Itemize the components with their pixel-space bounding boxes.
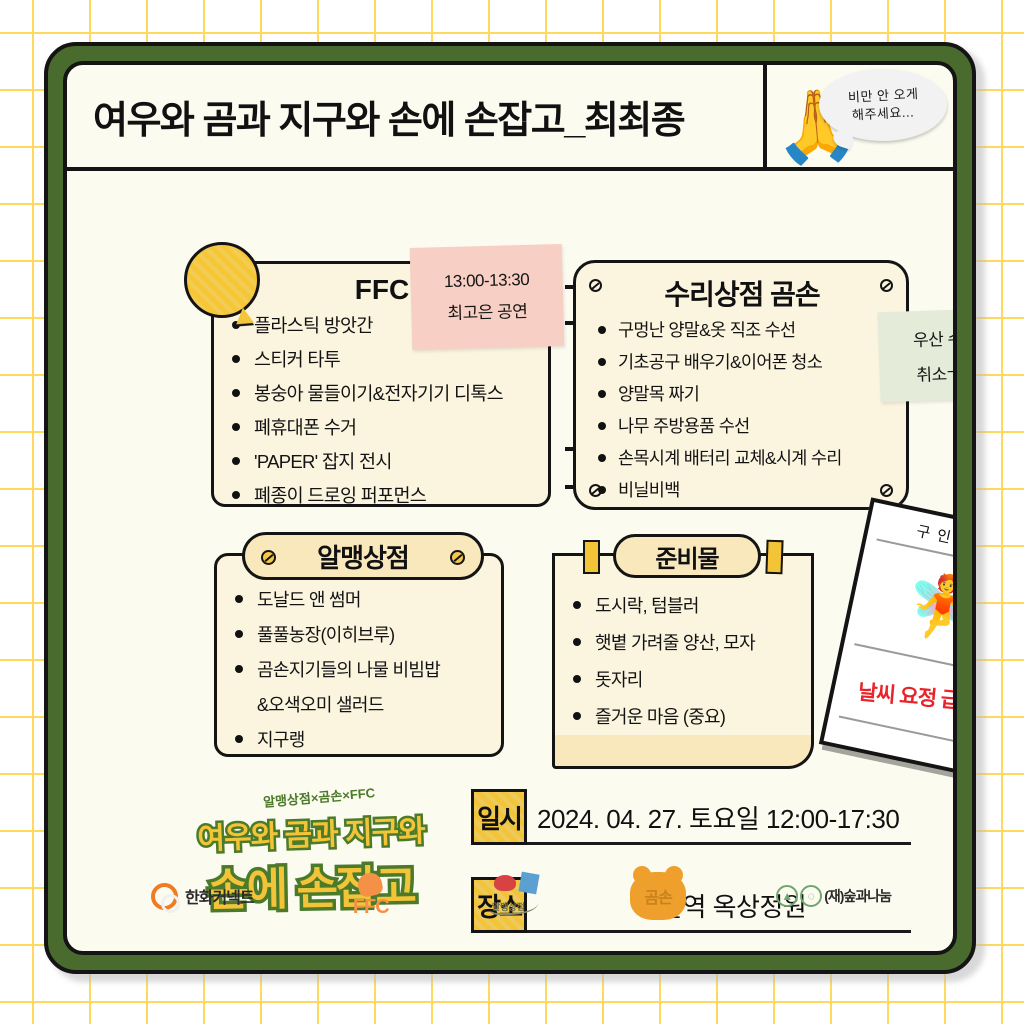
gomson-title: 수리상점 곰손: [588, 273, 896, 313]
almaeng-title: 알맹상점: [317, 538, 409, 575]
job-ad-card: 구인광고 🧚 날씨 요정 급구!!: [819, 497, 957, 782]
date-value: 2024. 04. 27. 토요일 12:00-17:30: [527, 799, 911, 845]
ffc-speech-bubble-icon: [184, 242, 260, 318]
poster-page: 여우와 곰과 지구와 손에 손잡고_최최종 🙏 비만 안 오게 해주세요... …: [0, 0, 1024, 1024]
list-item: 손목시계 배터리 교체&시계 수리: [588, 445, 896, 470]
tree-icon: ▲: [776, 885, 798, 907]
prep-card-scroll-curl: [552, 735, 814, 769]
list-item: 햇볕 가려줄 양산, 모자: [569, 629, 803, 655]
sponsor-ffc: FFC: [344, 873, 398, 919]
list-item: 나무 주방용품 수선: [588, 413, 896, 438]
sponsor-hanwha: 한화커넥트: [151, 883, 254, 910]
almaeng-logo-icon: 알맹상점: [488, 873, 540, 919]
globe-icon: ◌: [800, 885, 822, 907]
list-item: 봉숭아 물들이기&전자기기 디톡스: [228, 380, 536, 406]
sticky-note-green: 우산 수리 취소ㅜㅜ: [877, 308, 957, 403]
tape-icon: [583, 540, 600, 574]
sticky-pink-time: 13:00-13:30: [444, 270, 530, 292]
green-board-frame: 여우와 곰과 지구와 손에 손잡고_최최종 🙏 비만 안 오게 해주세요... …: [44, 42, 976, 974]
list-item-continuation: &오색오미 샐러드: [231, 691, 491, 717]
sponsor-row: 한화커넥트 FFC 알맹상점 곰손 ▲: [117, 861, 925, 931]
date-label: 일시: [471, 789, 527, 845]
prep-title: 준비물: [655, 539, 718, 574]
card-almaeng: 알맹상점 도날드 앤 썸머 풀풀농장(이히브루) 곰손지기들의 나물 비빔밥 &…: [214, 553, 504, 757]
speech-bubble: 비만 안 오게 해주세요...: [819, 69, 947, 141]
list-item: 기초공구 배우기&이어폰 청소: [588, 349, 896, 374]
list-item: 구멍난 양말&옷 직조 수선: [588, 317, 896, 342]
ffc-logo-icon: FFC: [344, 873, 398, 919]
sponsor-name: (재)숲과나눔: [824, 886, 891, 906]
hanwha-logo-icon: [151, 883, 178, 910]
gomson-list: 구멍난 양말&옷 직조 수선 기초공구 배우기&이어폰 청소 양말목 짜기 나무…: [588, 317, 896, 502]
almaeng-title-pill: 알맹상점: [242, 532, 484, 580]
job-ad-note-text: 날씨 요정 급구!!: [857, 676, 957, 717]
list-item: 양말목 짜기: [588, 381, 896, 406]
prep-list: 도시락, 텀블러 햇볕 가려줄 양산, 모자 돗자리 즐거운 마음 (중요): [569, 592, 803, 729]
sticky-green-line-1: 우산 수리: [913, 324, 957, 351]
title-box: 여우와 곰과 지구와 손에 손잡고_최최종: [67, 65, 767, 167]
card-gomson: 수리상점 곰손 구멍난 양말&옷 직조 수선 기초공구 배우기&이어폰 청소 양…: [573, 260, 909, 510]
hinge-icon: [565, 321, 576, 325]
list-item: 폐종이 드로잉 퍼포먼스: [228, 482, 536, 508]
screw-icon: [450, 550, 465, 565]
sticky-green-line-2: 취소ㅜㅜ: [916, 359, 957, 386]
list-item: 즐거운 마음 (중요): [569, 703, 803, 729]
gomson-logo-icon: 곰손: [630, 872, 686, 920]
sponsor-almaeng: 알맹상점: [488, 873, 540, 919]
sticky-pink-text: 최고은 공연: [447, 297, 528, 324]
list-item: 지구랭: [231, 726, 491, 752]
list-item: 도날드 앤 썸머: [231, 586, 491, 612]
title-right-slot: 🙏 비만 안 오게 해주세요...: [767, 65, 953, 167]
sponsor-name: 한화커넥트: [185, 884, 254, 908]
card-prep: 준비물 도시락, 텀블러 햇볕 가려줄 양산, 모자 돗자리 즐거운 마음 (중…: [552, 553, 814, 739]
almaeng-list: 도날드 앤 썸머 풀풀농장(이히브루) 곰손지기들의 나물 비빔밥 &오색오미 …: [231, 586, 491, 752]
list-item: 도시락, 텀블러: [569, 592, 803, 618]
sticky-note-pink: 13:00-13:30 최고은 공연: [410, 244, 565, 350]
page-title: 여우와 곰과 지구와 손에 손잡고_최최종: [93, 89, 684, 144]
prep-title-pill: 준비물: [613, 534, 761, 578]
speech-bubble-line-2: 해주세요...: [851, 103, 914, 124]
sponsor-name: 알맹상점: [492, 900, 525, 913]
hinge-icon: [565, 485, 576, 489]
list-item: 풀풀농장(이히브루): [231, 621, 491, 647]
sponsor-soop: ▲ ◌ (재)숲과나눔: [776, 885, 891, 907]
screw-icon: [589, 279, 602, 292]
tape-icon: [765, 540, 783, 575]
title-bar: 여우와 곰과 지구와 손에 손잡고_최최종 🙏 비만 안 오게 해주세요...: [67, 65, 953, 171]
list-item: 돗자리: [569, 666, 803, 692]
almaeng-blue-shape: [518, 872, 539, 895]
list-item: 'PAPER' 잡지 전시: [228, 448, 536, 474]
list-item: 스티커 타투: [228, 346, 536, 372]
list-item: 곰손지기들의 나물 비빔밥: [231, 656, 491, 682]
list-item: 비닐비백: [588, 477, 896, 502]
info-row-date: 일시 2024. 04. 27. 토요일 12:00-17:30: [471, 789, 911, 845]
poster-inner-paper: 여우와 곰과 지구와 손에 손잡고_최최종 🙏 비만 안 오게 해주세요... …: [63, 61, 957, 955]
almaeng-red-shape: [494, 875, 516, 891]
hinge-icon: [565, 447, 576, 451]
hinge-icon: [565, 285, 576, 289]
screw-icon: [880, 279, 893, 292]
screw-icon: [261, 550, 276, 565]
list-item: 폐휴대폰 수거: [228, 414, 536, 440]
sponsor-gomson: 곰손: [630, 872, 686, 920]
